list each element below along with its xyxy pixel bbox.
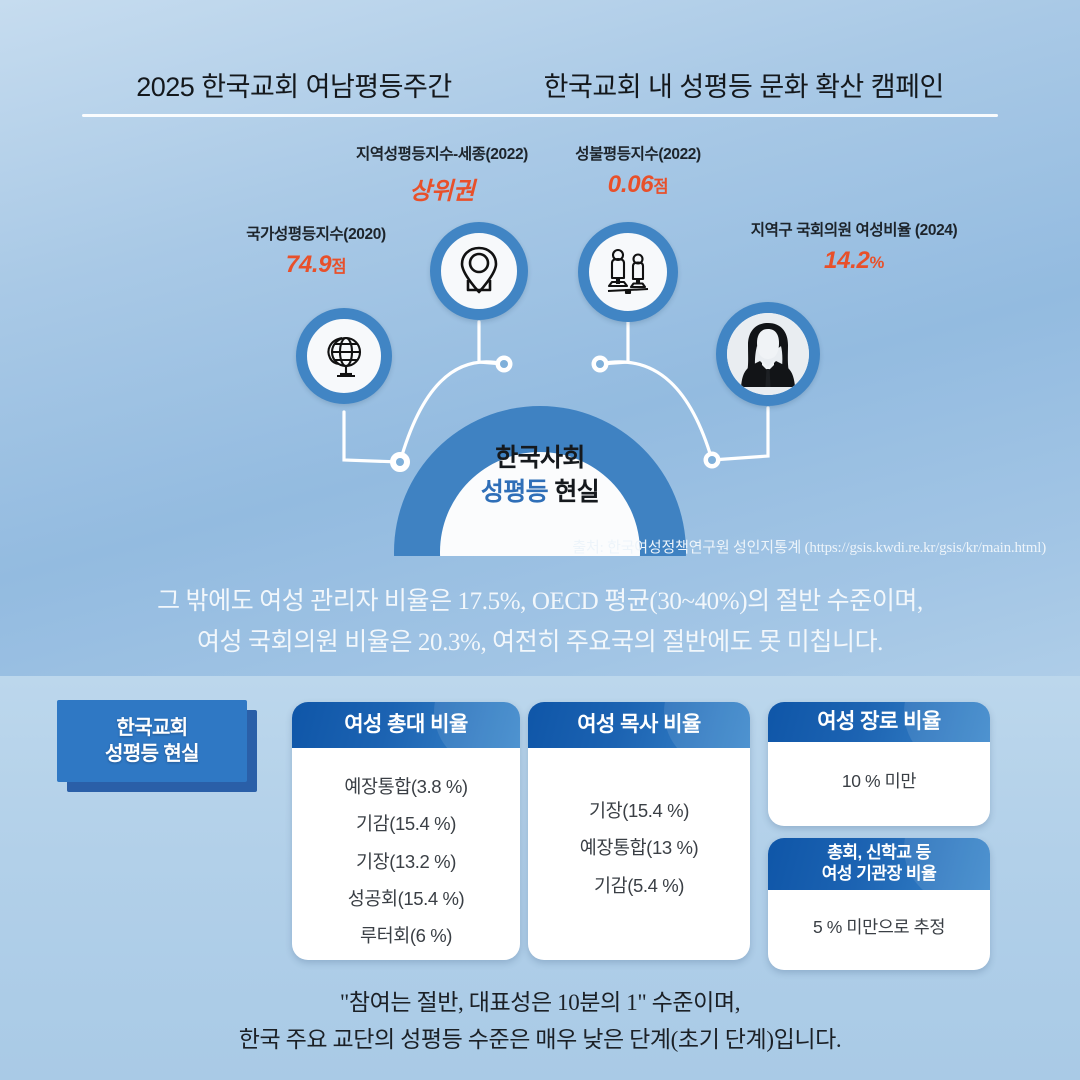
footer-line1: "참여는 절반, 대표성은 10분의 1" 수준이며, (0, 985, 1080, 1022)
card-female-institution-head-ratio: 총회, 신학교 등 여성 기관장 비율 5 % 미만으로 추정 (768, 838, 990, 970)
node-businesswoman (716, 302, 820, 406)
connector-lines (0, 0, 1080, 676)
node-location-pin (430, 222, 528, 320)
footer-line2: 한국 주요 교단의 성평등 수준은 매우 낮은 단계(초기 단계)입니다. (0, 1022, 1080, 1059)
card-female-presbyter-ratio: 여성 장로 비율 10 % 미만 (768, 702, 990, 826)
card-title: 여성 목사 비율 (577, 712, 701, 738)
card-header: 총회, 신학교 등 여성 기관장 비율 (768, 838, 990, 890)
infographic-canvas: 2025 한국교회 여남평등주간 한국교회 내 성평등 문화 확산 캠페인 국가… (0, 0, 1080, 1080)
globe-icon (318, 330, 370, 382)
dome-label-highlight: 성평등 (481, 478, 548, 506)
list-item: 예장통합(13 %) (528, 829, 750, 866)
footer-text: "참여는 절반, 대표성은 10분의 1" 수준이며, 한국 주요 교단의 성평… (0, 985, 1080, 1059)
card-title: 여성 장로 비율 (817, 709, 941, 735)
list-item: 성공회(15.4 %) (292, 880, 520, 917)
card-female-pastor-ratio: 여성 목사 비율 기장(15.4 %) 예장통합(13 %) 기감(5.4 %) (528, 702, 750, 960)
list-item: 기장(15.4 %) (528, 792, 750, 829)
location-pin-icon (454, 244, 504, 298)
section-badge: 한국교회 성평등 현실 (57, 700, 257, 792)
card-title-line2: 여성 기관장 비율 (822, 864, 936, 885)
card-title: 여성 총대 비율 (344, 712, 468, 738)
list-item: 10 % 미만 (768, 768, 990, 793)
node-globe (296, 308, 392, 404)
body-text: 그 밖에도 여성 관리자 비율은 17.5%, OECD 평균(30~40%)의… (0, 582, 1080, 663)
list-item: 기감(15.4 %) (292, 805, 520, 842)
list-item: 기감(5.4 %) (528, 867, 750, 904)
card-header: 여성 목사 비율 (528, 702, 750, 748)
list-item: 5 % 미만으로 추정 (768, 914, 990, 939)
list-item: 복음(21.26%) (292, 955, 520, 960)
dome-label-line2: 성평등 현실 (394, 476, 686, 510)
list-item: 기장(13.2 %) (292, 843, 520, 880)
dome-label: 한국사회 성평등 현실 (394, 442, 686, 509)
source-citation: 출처: 한국여성정책연구원 성인지통계 (https://gsis.kwdi.r… (0, 536, 1046, 557)
badge-body: 한국교회 성평등 현실 (57, 700, 247, 782)
dome-label-rest: 현실 (548, 478, 599, 506)
list-item: 루터회(6 %) (292, 917, 520, 954)
businesswoman-icon (727, 313, 809, 395)
body-text-line2: 여성 국회의원 비율은 20.3%, 여전히 주요국의 절반에도 못 미칩니다. (0, 623, 1080, 664)
badge-line2: 성평등 현실 (105, 741, 199, 767)
card-body: 기장(15.4 %) 예장통합(13 %) 기감(5.4 %) (528, 748, 750, 904)
gender-scale-icon (600, 246, 656, 298)
dome-label-line1: 한국사회 (394, 442, 686, 476)
card-header: 여성 총대 비율 (292, 702, 520, 748)
node-gender-scale (578, 222, 678, 322)
card-female-assembly-delegate-ratio: 여성 총대 비율 예장통합(3.8 %) 기감(15.4 %) 기장(13.2 … (292, 702, 520, 960)
list-item: 예장통합(3.8 %) (292, 768, 520, 805)
card-header: 여성 장로 비율 (768, 702, 990, 742)
center-dome: 한국사회 성평등 현실 (394, 406, 686, 556)
badge-line1: 한국교회 (116, 715, 187, 741)
card-title-line1: 총회, 신학교 등 (827, 843, 931, 864)
body-text-line1: 그 밖에도 여성 관리자 비율은 17.5%, OECD 평균(30~40%)의… (0, 582, 1080, 623)
card-body: 예장통합(3.8 %) 기감(15.4 %) 기장(13.2 %) 성공회(15… (292, 748, 520, 960)
